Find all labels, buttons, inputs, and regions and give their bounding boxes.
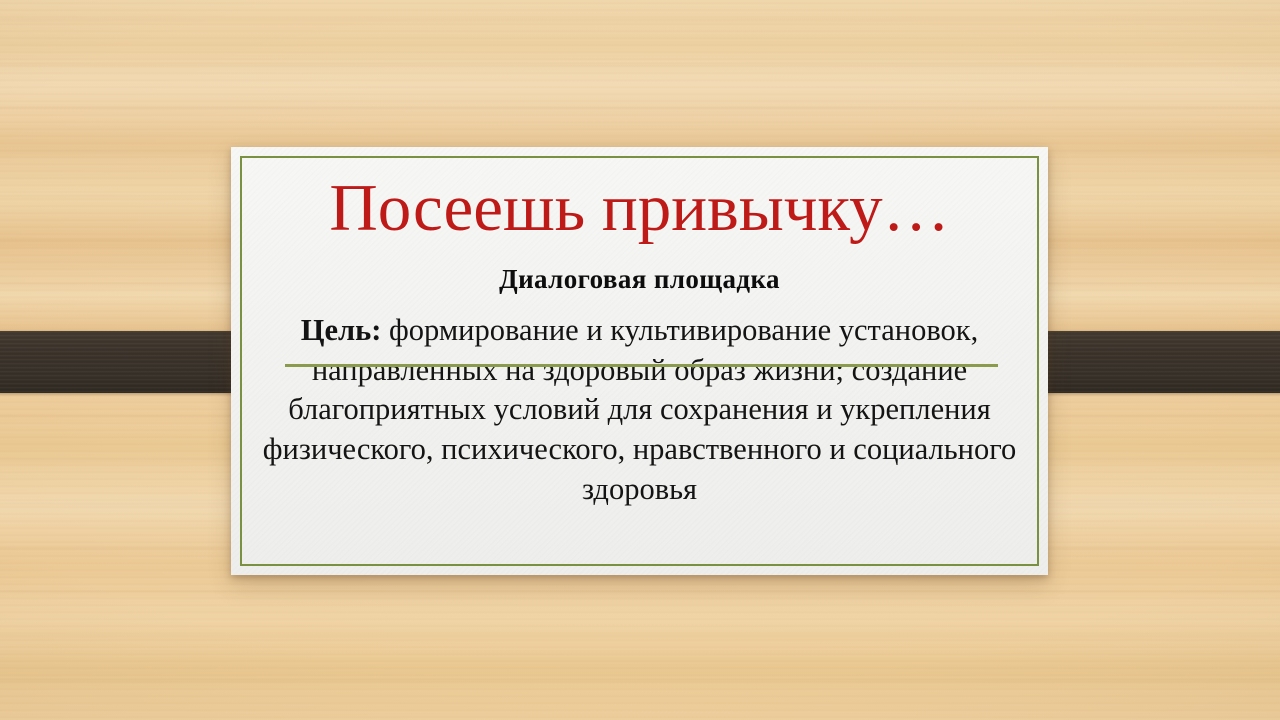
slide-title: Посеешь привычку… xyxy=(253,161,1026,242)
card-content: Посеешь привычку… Диалоговая площадка Це… xyxy=(253,161,1026,561)
slide-subtitle: Диалоговая площадка xyxy=(253,242,1026,295)
olive-horizontal-rule xyxy=(285,364,998,367)
ribbon-band-left xyxy=(0,331,263,393)
presentation-slide: Посеешь привычку… Диалоговая площадка Це… xyxy=(0,0,1280,720)
body-lead-label: Цель: xyxy=(301,313,382,347)
content-card: Посеешь привычку… Диалоговая площадка Це… xyxy=(231,147,1048,575)
slide-body: Цель: формирование и культивирование уст… xyxy=(253,295,1026,509)
ribbon-band-right xyxy=(1019,331,1280,393)
